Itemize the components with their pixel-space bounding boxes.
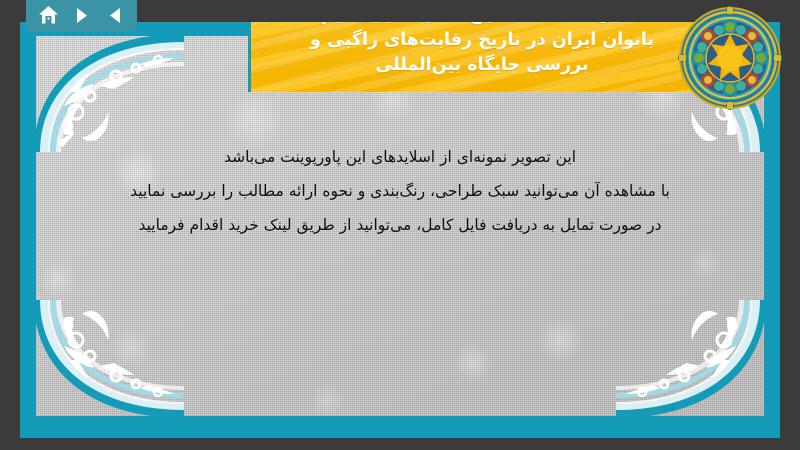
- slide-navigation-bar[interactable]: [26, 0, 137, 32]
- slide-body-text: این تصویر نمونه‌ای از اسلایدهای این پاور…: [20, 140, 780, 242]
- back-arrow-icon[interactable]: [102, 3, 128, 27]
- home-icon[interactable]: [35, 3, 61, 27]
- body-line-1: این تصویر نمونه‌ای از اسلایدهای این پاور…: [64, 140, 736, 174]
- forward-arrow-icon[interactable]: [69, 3, 95, 27]
- title-line-2: بانوان ایران در تاریخ رقابت‌های راگبی و: [273, 28, 691, 53]
- body-line-2: با مشاهده آن می‌توانید سبک طراحی، رنگ‌بن…: [64, 174, 736, 208]
- title-line-3: بررسی جایگاه بین‌المللی: [273, 53, 691, 78]
- persian-medallion-ornament-icon: [678, 6, 782, 110]
- slide-preview-viewer: این تصویر نمونه‌ای از اسلایدهای این پاور…: [0, 0, 800, 450]
- body-line-3: در صورت تمایل به دریافت فایل کامل، می‌تو…: [64, 208, 736, 242]
